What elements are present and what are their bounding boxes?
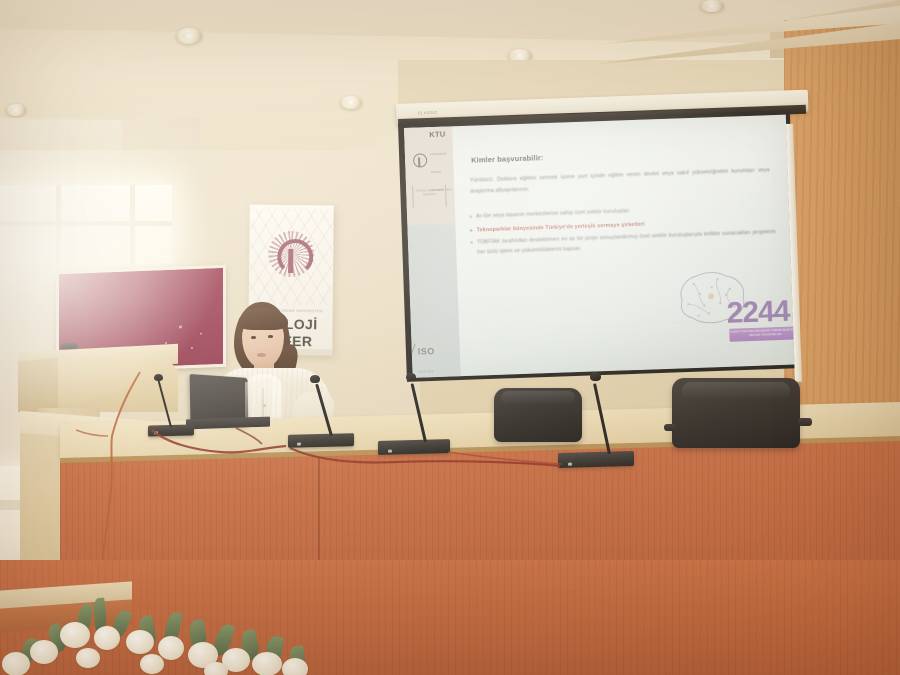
tto-logo-icon [268,231,314,277]
iso-certification-logo: ISO 9001:2015 [417,340,458,359]
stem-icon [288,249,293,273]
flower [158,636,184,660]
downlight-icon [6,104,26,116]
lectern-side [18,356,58,412]
iso-logo-subtitle: 9001:2015 [418,369,433,374]
flower [76,648,100,668]
program-ribbon: SANAYİ DOKTORA PROGRAMI TÜBİTAK BİLİM İN… [729,326,794,342]
microphone-head [406,373,416,381]
flower [140,654,164,674]
flower [30,640,58,664]
program-ribbon-text: SANAYİ DOKTORA PROGRAMI TÜBİTAK BİLİM İN… [729,328,794,339]
microphone-base[interactable] [288,433,354,448]
mic-button[interactable] [154,431,158,434]
presentation-slide: KTU KARADENIZ TEKNIK UNIVERSITESI TÜBİTA… [404,115,794,378]
eye-left [251,336,256,339]
microphone-base[interactable] [558,451,634,468]
downlight-icon [700,0,724,12]
microphone-head [590,372,601,381]
chair-back[interactable] [494,388,582,442]
flower [282,658,308,675]
flower [252,652,282,675]
arc-icon [277,239,313,275]
flower [2,652,30,675]
flower [204,662,228,675]
flower [94,626,120,650]
microphone-head [310,375,320,383]
program-2244-graphic: 2244 SANAYİ DOKTORA PROGRAMI TÜBİTAK BİL… [673,263,794,353]
chair-back[interactable] [672,378,800,448]
lectern-microphone-base [60,343,78,350]
mic-button[interactable] [388,450,392,453]
downlight-icon [340,96,362,109]
ktu-mark-icon [413,153,427,167]
chair-highlight [501,391,575,405]
clerestory-window [0,185,172,263]
chair-armrest [798,418,812,426]
conference-hall-photo: CLASSIC KTU KARADENIZ TEKNIK UNIVERSITES… [0,0,900,675]
chair-highlight [682,382,790,400]
mic-button[interactable] [297,443,301,446]
chair-armrest [664,424,676,431]
microphone-base[interactable] [378,439,450,455]
mouth [257,353,266,357]
ktu-logo-text: KTU [429,130,446,140]
flower [126,630,154,654]
ktu-logo: KTU KARADENIZ TEKNIK UNIVERSITESI [413,151,454,168]
projection-screen: KTU KARADENIZ TEKNIK UNIVERSITESI TÜBİTA… [404,115,794,378]
mic-button[interactable] [568,463,572,466]
program-number: 2244 [726,297,790,329]
microphone-head [154,374,163,381]
slide-sidebar-note: TÜBİTAK 2244 SANAYİ DOKTORA [412,185,447,208]
flower [60,622,90,648]
slide-heading: Kimler başvurabilir: [471,153,544,165]
slide-body: Kimler başvurabilir: Yürütücü: Doktora e… [456,115,795,376]
eye-right [268,335,273,338]
slide-paragraph: Yürütücü: Doktora eğitimi vermek üzere y… [470,165,771,197]
window-mullion [0,221,172,226]
downlight-icon [176,28,202,44]
roller-brand-label: CLASSIC [418,110,444,118]
floral-arrangement [0,596,330,675]
